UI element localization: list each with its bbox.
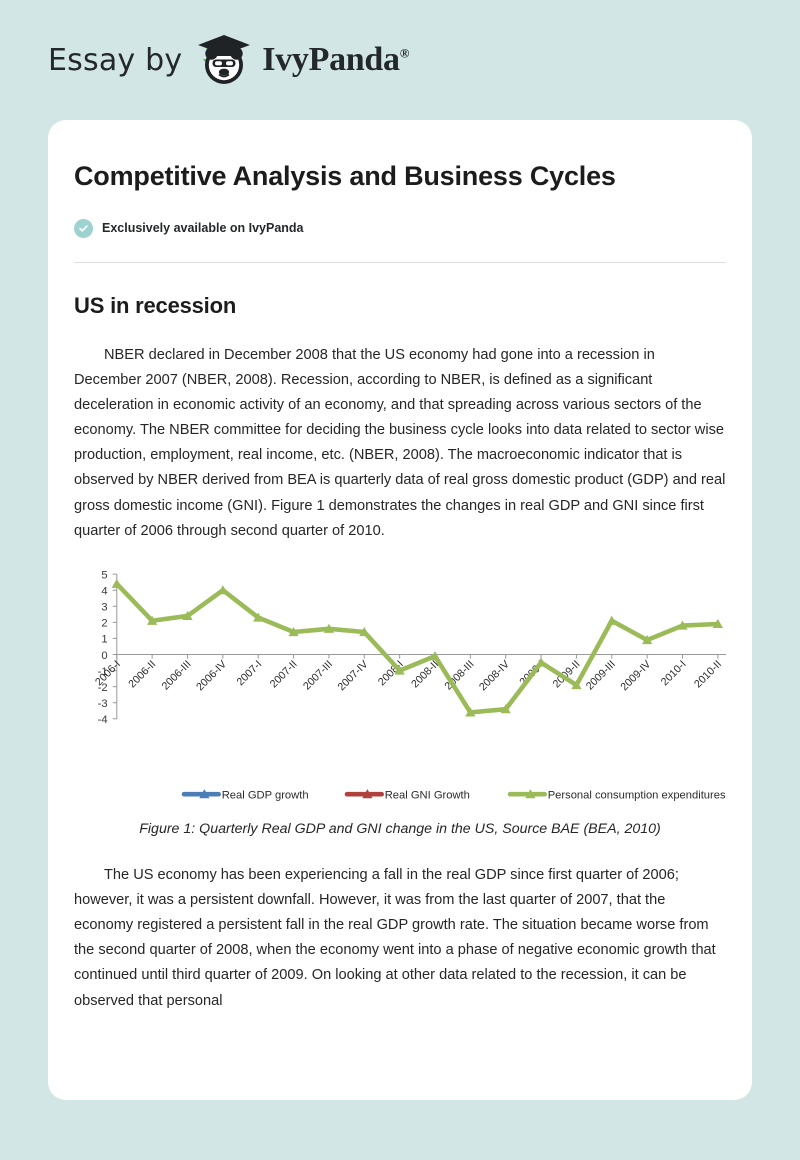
svg-text:Real GNI Growth: Real GNI Growth [385, 789, 470, 801]
svg-text:Real GDP growth: Real GDP growth [222, 789, 309, 801]
paragraph-one-text: NBER declared in December 2008 that the … [74, 347, 725, 539]
svg-text:Personal consumption expenditu: Personal consumption expenditures [548, 789, 726, 801]
paragraph-two-text: The US economy has been experiencing a f… [74, 867, 716, 1008]
page-title: Competitive Analysis and Business Cycles [74, 160, 674, 193]
figure-1: 543210-1-2-3-42006-I2006-II2006-III2006-… [74, 566, 726, 837]
svg-text:2007-IV: 2007-IV [336, 657, 372, 693]
exclusive-badge: Exclusively available on IvyPanda [74, 219, 726, 238]
chart-quarterly-gdp-gni: 543210-1-2-3-42006-I2006-II2006-III2006-… [74, 566, 726, 805]
svg-text:-4: -4 [98, 714, 108, 726]
paragraph-two: The US economy has been experiencing a f… [74, 863, 726, 1014]
svg-text:2007-II: 2007-II [268, 658, 300, 690]
svg-text:2010-I: 2010-I [659, 658, 689, 688]
svg-text:5: 5 [101, 569, 107, 581]
svg-text:2007-III: 2007-III [301, 658, 335, 692]
brand-name-text: IvyPanda [262, 41, 399, 78]
svg-text:2007-I: 2007-I [234, 658, 264, 688]
svg-text:3: 3 [101, 601, 107, 613]
svg-text:2008-IV: 2008-IV [477, 657, 513, 693]
svg-text:2006-IV: 2006-IV [194, 657, 230, 693]
document-card: Competitive Analysis and Business Cycles… [48, 120, 752, 1100]
svg-text:2: 2 [101, 617, 107, 629]
registered-mark: ® [400, 46, 409, 61]
panda-graduate-logo-icon [192, 29, 256, 91]
svg-text:4: 4 [101, 585, 107, 597]
svg-text:2010-II: 2010-II [692, 658, 724, 690]
check-circle-icon [74, 219, 93, 238]
svg-text:0: 0 [101, 649, 107, 661]
section-heading: US in recession [74, 293, 726, 319]
essay-by-label: Essay by [48, 43, 182, 78]
figure-caption: Figure 1: Quarterly Real GDP and GNI cha… [74, 821, 726, 837]
brand-lockup: Essay by [48, 29, 409, 91]
header-divider [74, 262, 726, 263]
exclusive-badge-label: Exclusively available on IvyPanda [102, 221, 304, 235]
paragraph-one: NBER declared in December 2008 that the … [74, 343, 726, 544]
svg-text:2006-III: 2006-III [160, 658, 194, 692]
site-masthead: Essay by [0, 0, 800, 120]
ivypanda-logo: IvyPanda® [192, 29, 409, 91]
brand-wordmark: IvyPanda® [262, 41, 409, 79]
svg-text:2009-IV: 2009-IV [618, 657, 654, 693]
svg-text:1: 1 [101, 633, 107, 645]
svg-text:2006-II: 2006-II [126, 658, 158, 690]
svg-text:-3: -3 [98, 698, 108, 710]
